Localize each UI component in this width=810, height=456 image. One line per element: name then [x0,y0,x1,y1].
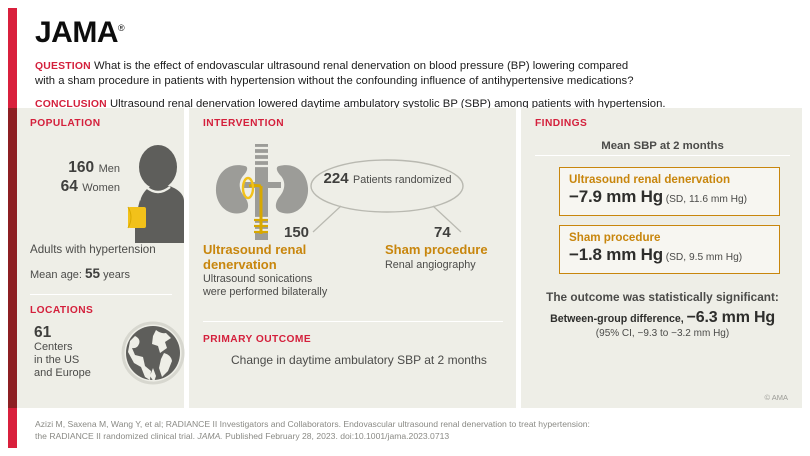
mean-age-value: 55 [85,266,100,281]
accent-bar-top [8,8,17,108]
arm-right-count: 74 [434,224,451,241]
finding-box-denervation: Ultrasound renal denervation −7.9 mm Hg … [559,167,780,216]
confidence-interval: (95% CI, −9.3 to −3.2 mm Hg) [535,328,790,339]
locations-line-2: in the US [34,354,91,367]
finding-box-sham-label: Sham procedure [569,231,771,245]
findings-panel: FINDINGS Mean SBP at 2 months Ultrasound… [521,108,802,408]
randomization-label: 224 Patients randomized [310,170,465,188]
sham-sd: (SD, 9.5 mm Hg) [663,252,742,263]
person-with-bp-cuff-icon [118,145,190,248]
arm-left-subtext: Ultrasound sonications were performed bi… [203,273,363,299]
finding-box-denervation-label: Ultrasound renal denervation [569,173,771,187]
finding-box-denervation-value: −7.9 mm Hg (SD, 11.6 mm Hg) [569,187,771,209]
arm-right-subtext: Renal angiography [385,259,515,272]
denervation-sd: (SD, 11.6 mm Hg) [663,194,747,205]
intervention-panel: INTERVENTION [189,108,516,408]
locations-line-1: Centers [34,341,91,354]
arm-right-title: Sham procedure [385,243,515,258]
body-panels: POPULATION 160 Men 64 Women [17,108,802,408]
sham-value: −1.8 mm Hg [569,245,663,264]
locations-line-3: and Europe [34,367,91,380]
population-title: POPULATION [30,118,174,129]
randomized-count: 224 [324,170,349,187]
women-label: Women [82,182,120,194]
globe-icon [120,320,186,391]
population-figure-group: 160 Men 64 Women [30,131,174,249]
arm-left-block: Ultrasound renal denervation Ultrasound … [203,243,363,299]
population-panel: POPULATION 160 Men 64 Women [17,108,184,408]
visual-abstract-page: JAMA® QUESTION What is the effect of end… [0,0,810,456]
finding-box-sham-value: −1.8 mm Hg (SD, 9.5 mm Hg) [569,245,771,267]
jama-logo: JAMA® [35,18,802,48]
accent-bar-bottom [8,408,17,448]
intervention-divider [203,321,503,322]
primary-outcome-text: Change in daytime ambulatory SBP at 2 mo… [231,353,487,367]
registered-mark: ® [118,23,124,33]
footer: Azizi M, Saxena M, Wang Y, et al; RADIAN… [17,409,802,448]
primary-outcome-title: PRIMARY OUTCOME [203,334,487,345]
population-mean-age: Mean age: 55 years [30,266,174,281]
question-kicker: QUESTION [35,61,91,72]
finding-box-sham: Sham procedure −1.8 mm Hg (SD, 9.5 mm Hg… [559,225,780,274]
findings-chart-heading: Mean SBP at 2 months [535,140,790,152]
men-label: Men [99,163,120,175]
difference-value: −6.3 mm Hg [687,309,775,326]
significance-block: The outcome was statistically significan… [535,290,790,339]
primary-outcome-block: PRIMARY OUTCOME Change in daytime ambula… [203,334,487,367]
arm-left-title-line-2: denervation [203,257,277,272]
men-count: 160 [68,159,94,176]
randomized-label: Patients randomized [353,174,451,186]
arm-left-title: Ultrasound renal denervation [203,243,363,272]
between-group-difference-row: Between-group difference, −6.3 mm Hg [535,309,790,327]
arm-left-title-line-1: Ultrasound renal [203,242,306,257]
jama-logo-text: JAMA [35,16,118,49]
question-line-2: with a sham procedure in patients with h… [35,75,633,87]
women-count: 64 [61,178,78,195]
population-stats: 160 Men 64 Women [34,159,120,197]
citation-line-2a: the RADIANCE II randomized clinical tria… [35,431,197,441]
citation-line-1: Azizi M, Saxena M, Wang Y, et al; RADIAN… [35,419,590,429]
arm-right-block: Sham procedure Renal angiography [385,243,515,272]
randomization-flow-diagram [189,128,516,258]
findings-heading-rule [535,155,790,156]
question-block: QUESTION What is the effect of endovascu… [35,59,802,88]
locations-count: 61 [34,324,91,341]
citation: Azizi M, Saxena M, Wang Y, et al; RADIAN… [35,418,802,442]
findings-title: FINDINGS [535,118,790,129]
arm-left-count: 150 [284,224,309,241]
population-divider [30,294,172,295]
mean-age-suffix: years [100,269,130,281]
women-row: 64 Women [34,178,120,197]
copyright-notice: © AMA [765,393,788,402]
locations-text: 61 Centers in the US and Europe [34,324,91,380]
men-row: 160 Men [34,159,120,178]
question-line-1: What is the effect of endovascular ultra… [91,60,628,72]
locations-group: 61 Centers in the US and Europe [30,318,174,398]
mean-age-prefix: Mean age: [30,269,85,281]
arm-left-sub-line-2: were performed bilaterally [203,286,327,298]
header: JAMA® QUESTION What is the effect of end… [17,8,802,108]
locations-title: LOCATIONS [30,305,174,316]
significance-statement: The outcome was statistically significan… [535,290,790,304]
citation-journal: JAMA. [197,431,222,441]
citation-line-2b: Published February 28, 2023. doi:10.1001… [223,431,449,441]
difference-label: Between-group difference, [550,313,687,325]
accent-bar-middle [8,108,17,408]
denervation-value: −7.9 mm Hg [569,187,663,206]
arm-left-sub-line-1: Ultrasound sonications [203,273,312,285]
